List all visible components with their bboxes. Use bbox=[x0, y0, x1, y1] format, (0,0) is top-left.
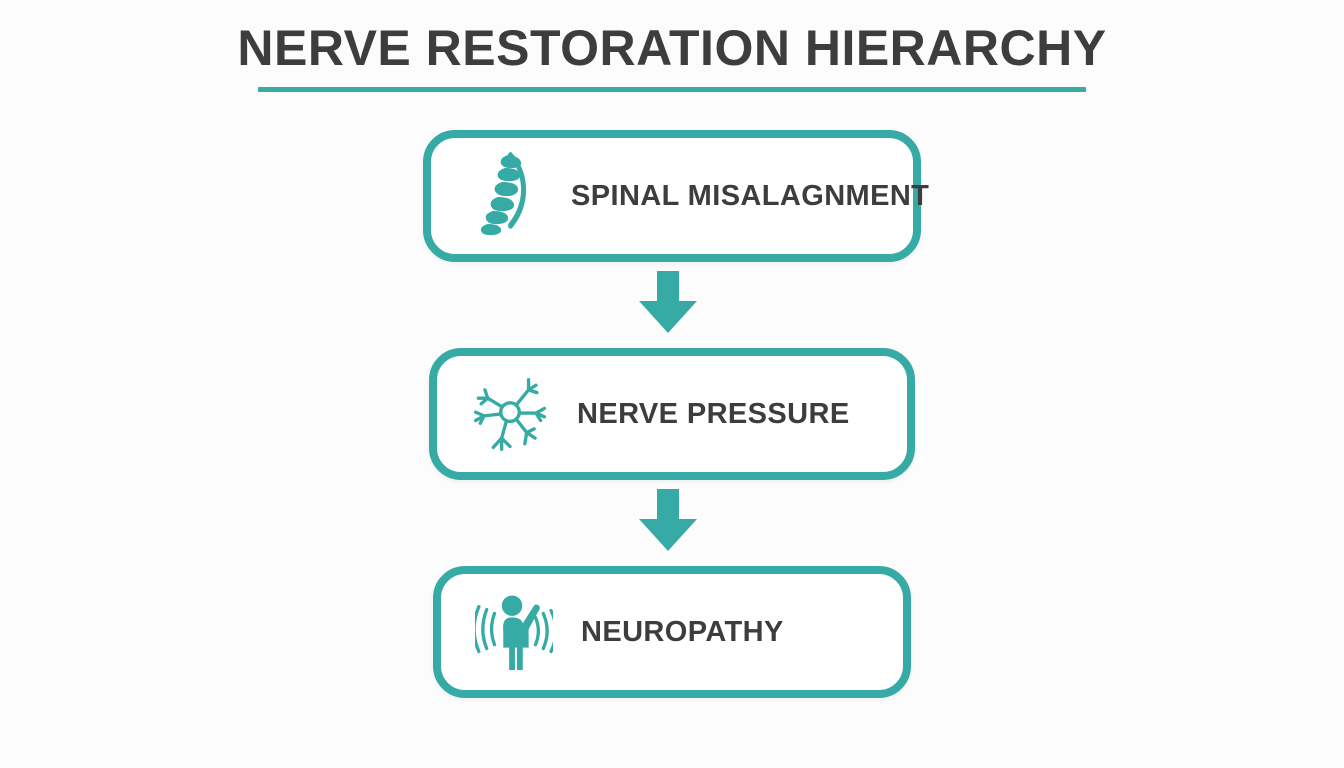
arrow-down-icon bbox=[637, 271, 699, 340]
diagram-step-label: NERVE PRESSURE bbox=[577, 398, 850, 431]
diagram-step-nerve-pressure[interactable]: NERVE PRESSURE bbox=[429, 348, 915, 480]
spine-icon bbox=[465, 153, 543, 239]
diagram-connector-2 bbox=[0, 480, 1344, 566]
page-title-block: NERVE RESTORATION HIERARCHY bbox=[0, 22, 1344, 92]
person-signal-icon bbox=[475, 589, 553, 675]
diagram-step-row-2: NERVE PRESSURE bbox=[0, 348, 1344, 480]
page-title: NERVE RESTORATION HIERARCHY bbox=[0, 22, 1344, 75]
nerve-restoration-hierarchy-diagram: SPINAL MISALAGNMENT bbox=[0, 130, 1344, 698]
arrow-down-icon bbox=[637, 489, 699, 558]
diagram-step-spinal-misalagnment[interactable]: SPINAL MISALAGNMENT bbox=[423, 130, 921, 262]
diagram-step-label: SPINAL MISALAGNMENT bbox=[571, 180, 929, 213]
diagram-step-neuropathy[interactable]: NEUROPATHY bbox=[433, 566, 911, 698]
diagram-connector-1 bbox=[0, 262, 1344, 348]
diagram-step-row-3: NEUROPATHY bbox=[0, 566, 1344, 698]
title-underline-rule bbox=[258, 87, 1086, 92]
diagram-step-row-1: SPINAL MISALAGNMENT bbox=[0, 130, 1344, 262]
diagram-step-label: NEUROPATHY bbox=[581, 616, 784, 649]
neuron-icon bbox=[471, 371, 549, 457]
